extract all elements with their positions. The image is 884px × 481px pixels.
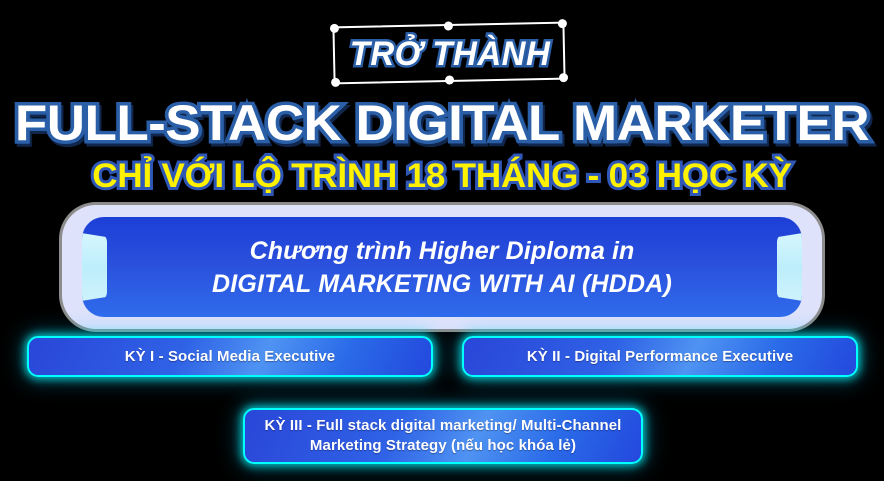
program-card: Chương trình Higher Diploma in DIGITAL M… (62, 205, 822, 329)
program-line-2: DIGITAL MARKETING WITH AI (HDDA) (212, 269, 672, 299)
term-2-label: KỲ II - Digital Performance Executive (517, 347, 803, 367)
page-title: FULL-STACK DIGITAL MARKETER (0, 97, 884, 149)
program-line-1: Chương trình Higher Diploma in (250, 236, 635, 266)
page-subtitle: CHỈ VỚI LỘ TRÌNH 18 THÁNG - 03 HỌC KỲ (0, 157, 884, 195)
term-1-label: KỲ I - Social Media Executive (115, 347, 345, 367)
tro-thanh-label: TRỞ THÀNH (334, 18, 567, 90)
term-3-button[interactable]: KỲ III - Full stack digital marketing/ M… (243, 408, 643, 464)
term-1-button[interactable]: KỲ I - Social Media Executive (27, 336, 433, 377)
program-card-text: Chương trình Higher Diploma in DIGITAL M… (82, 217, 802, 317)
tro-thanh-badge: TRỞ THÀNH (330, 18, 570, 90)
poster-canvas: TRỞ THÀNH FULL-STACK DIGITAL MARKETER CH… (0, 0, 884, 481)
term-3-label: KỲ III - Full stack digital marketing/ M… (245, 416, 641, 456)
term-2-button[interactable]: KỲ II - Digital Performance Executive (462, 336, 858, 377)
program-card-body: Chương trình Higher Diploma in DIGITAL M… (82, 217, 802, 317)
